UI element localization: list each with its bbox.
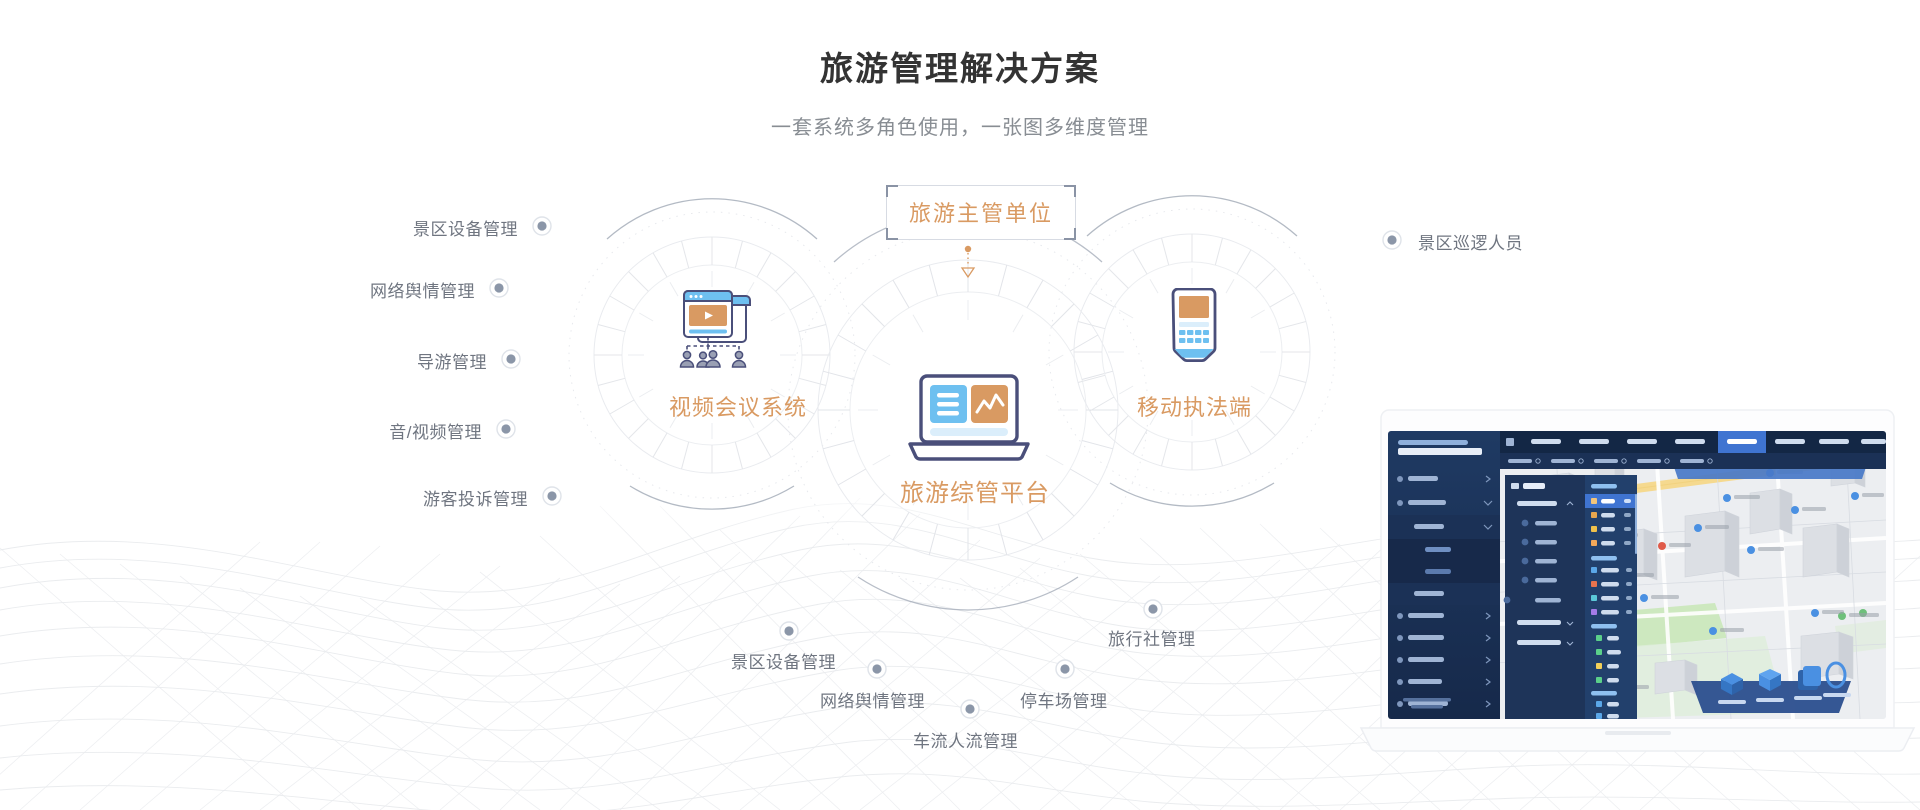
left-label-2[interactable]: 导游管理	[257, 348, 487, 373]
corner-mark-tl	[886, 185, 898, 197]
left-connector-lines	[509, 226, 648, 496]
node-dot	[1383, 231, 1401, 249]
node-dots	[490, 217, 1401, 718]
left-label-0[interactable]: 景区设备管理	[288, 215, 518, 240]
handheld-device-icon	[1165, 288, 1223, 375]
node-dot	[1144, 600, 1162, 618]
node-dot	[780, 622, 798, 640]
node-dot	[533, 217, 551, 235]
mobile-enforcement-label: 移动执法端	[1137, 390, 1252, 422]
left-label-1[interactable]: 网络舆情管理	[245, 277, 475, 302]
header: 旅游管理解决方案 一套系统多角色使用，一张图多维度管理	[0, 0, 1920, 140]
bottom-label-3[interactable]: 停车场管理	[1020, 687, 1108, 712]
bottom-connector-lines	[789, 530, 1153, 698]
right-label-0[interactable]: 景区巡逻人员	[1418, 229, 1523, 254]
bottom-label-0[interactable]: 景区设备管理	[731, 648, 836, 673]
authority-connector-arrow	[962, 246, 974, 277]
corner-mark-bl	[886, 228, 898, 240]
left-label-4[interactable]: 游客投诉管理	[298, 485, 528, 510]
node-dot	[543, 487, 561, 505]
page-title: 旅游管理解决方案	[0, 42, 1920, 90]
infographic-canvas: 旅游管理解决方案 一套系统多角色使用，一张图多维度管理	[0, 0, 1920, 810]
laptop-screenshot	[1355, 398, 1920, 763]
corner-mark-tr	[1064, 185, 1076, 197]
video-conference-label: 视频会议系统	[669, 390, 807, 422]
node-dot	[961, 700, 979, 718]
node-dot	[497, 420, 515, 438]
node-dot	[502, 350, 520, 368]
authority-label: 旅游主管单位	[909, 201, 1053, 226]
corner-mark-br	[1064, 228, 1076, 240]
bottom-label-2[interactable]: 车流人流管理	[913, 727, 1018, 752]
node-dot	[490, 279, 508, 297]
authority-box[interactable]: 旅游主管单位	[886, 185, 1076, 240]
bottom-label-4[interactable]: 旅行社管理	[1108, 625, 1196, 650]
bottom-label-1[interactable]: 网络舆情管理	[820, 687, 925, 712]
platform-label: 旅游综管平台	[900, 473, 1050, 508]
video-window-icon	[676, 290, 756, 373]
left-label-3[interactable]: 音/视频管理	[252, 418, 482, 443]
node-dot	[868, 660, 886, 678]
laptop-dashboard-icon	[908, 374, 1030, 467]
node-dot	[1056, 660, 1074, 678]
page-subtitle: 一套系统多角色使用，一张图多维度管理	[0, 111, 1920, 140]
